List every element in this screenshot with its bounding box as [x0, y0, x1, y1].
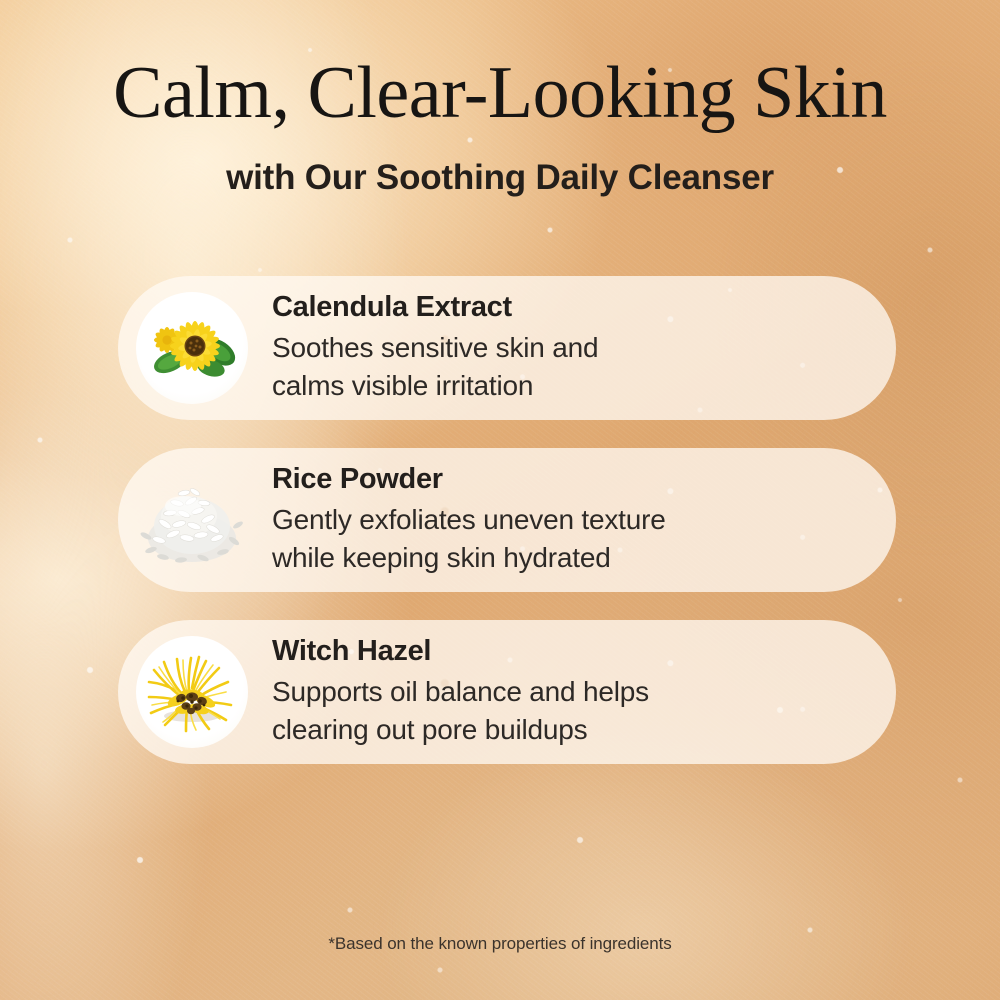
rice-powder-icon [136, 464, 248, 576]
ingredient-name: Witch Hazel [272, 635, 649, 667]
page-title: Calm, Clear-Looking Skin [0, 0, 1000, 130]
ingredient-text-witch-hazel: Witch Hazel Supports oil balance and hel… [272, 635, 649, 749]
ingredient-card-calendula: Calendula Extract Soothes sensitive skin… [118, 276, 896, 420]
page-subtitle: with Our Soothing Daily Cleanser [0, 130, 1000, 195]
ingredient-text-rice-powder: Rice Powder Gently exfoliates uneven tex… [272, 463, 666, 577]
ingredient-name: Calendula Extract [272, 291, 598, 323]
ingredient-name: Rice Powder [272, 463, 666, 495]
ingredient-description: Soothes sensitive skin and calms visible… [272, 329, 598, 405]
witch-hazel-flower-icon [136, 636, 248, 748]
ingredient-text-calendula: Calendula Extract Soothes sensitive skin… [272, 291, 598, 405]
ingredient-card-list: Calendula Extract Soothes sensitive skin… [0, 276, 1000, 764]
header: Calm, Clear-Looking Skin with Our Soothi… [0, 0, 1000, 195]
ingredient-description: Supports oil balance and helps clearing … [272, 673, 649, 749]
footnote-disclaimer: *Based on the known properties of ingred… [0, 934, 1000, 954]
calendula-flower-icon [136, 292, 248, 404]
ingredient-card-rice-powder: Rice Powder Gently exfoliates uneven tex… [118, 448, 896, 592]
ingredient-card-witch-hazel: Witch Hazel Supports oil balance and hel… [118, 620, 896, 764]
ingredient-poster: Calm, Clear-Looking Skin with Our Soothi… [0, 0, 1000, 1000]
ingredient-description: Gently exfoliates uneven texture while k… [272, 501, 666, 577]
